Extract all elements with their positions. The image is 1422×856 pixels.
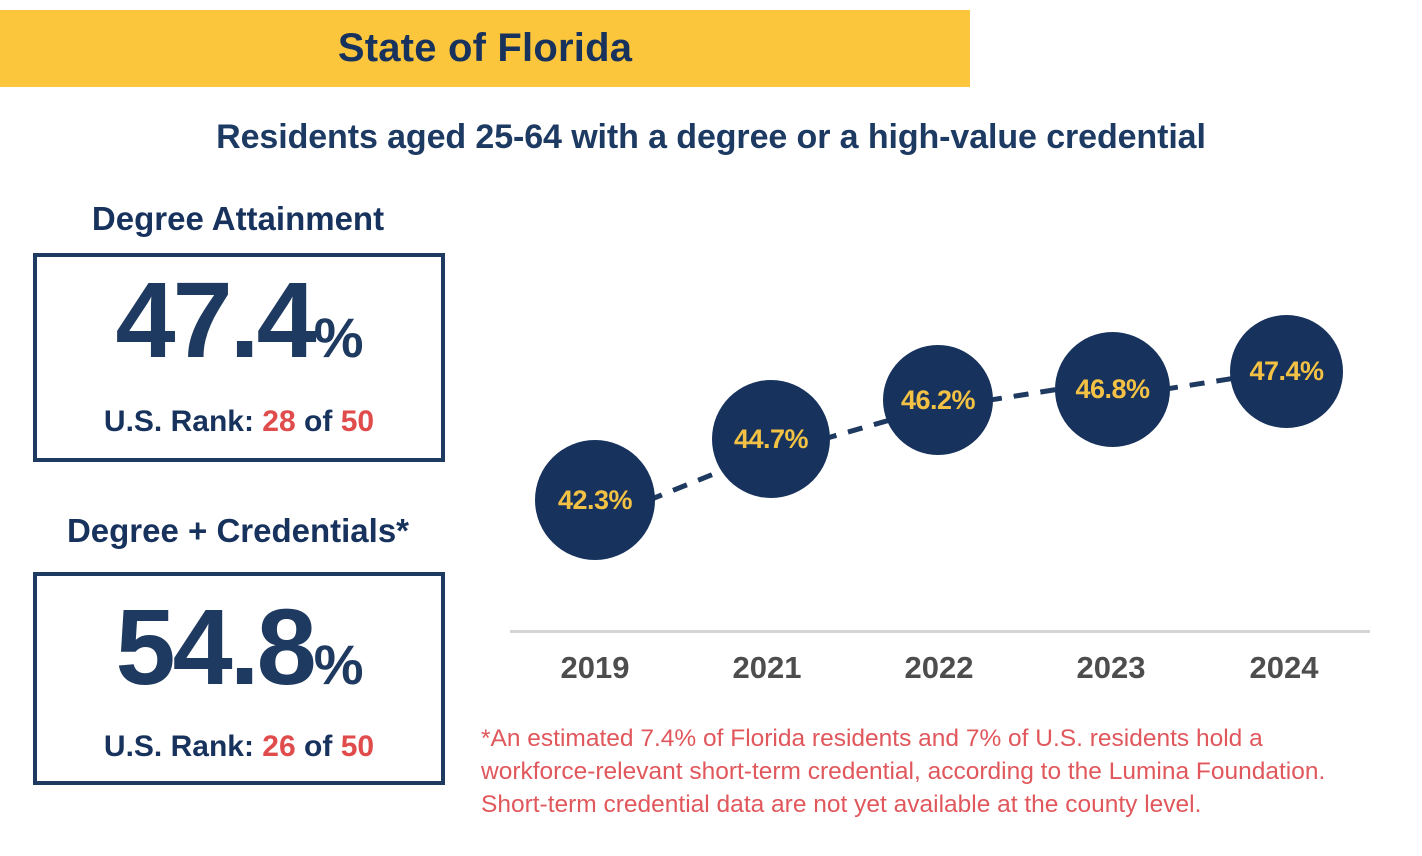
rank-of-word: of: [304, 730, 332, 763]
rank-label: U.S. Rank:: [104, 405, 254, 438]
stat-heading-degree-plus-credentials: Degree + Credentials*: [8, 512, 468, 550]
data-bubble: 47.4%: [1230, 315, 1343, 428]
page-title: State of Florida: [0, 10, 970, 87]
subtitle: Residents aged 25-64 with a degree or a …: [0, 118, 1422, 157]
data-bubble: 44.7%: [712, 380, 830, 498]
axis-tick-label: 2022: [879, 650, 999, 686]
axis-line: [510, 630, 1370, 633]
percent-symbol: %: [314, 306, 363, 369]
stat-rank-degree-plus-credentials: U.S. Rank: 26 of 50: [37, 730, 441, 764]
dashed-connector: [821, 416, 894, 441]
data-bubble: 46.8%: [1055, 332, 1170, 447]
stat-card-degree-attainment: 47.4% U.S. Rank: 28 of 50: [33, 253, 445, 462]
footnote-line: *An estimated 7.4% of Florida residents …: [481, 722, 1406, 755]
stat-value-row: 47.4%: [37, 263, 441, 376]
footnote-line: Short-term credential data are not yet a…: [481, 788, 1406, 821]
stat-card-degree-plus-credentials: 54.8% U.S. Rank: 26 of 50: [33, 572, 445, 785]
bubble-trend-chart: 42.3% 44.7% 46.2% 46.8% 47.4%: [500, 280, 1400, 700]
axis-tick-labels: 2019 2021 2022 2023 2024: [500, 650, 1380, 694]
rank-of-word: of: [304, 405, 332, 438]
rank-label: U.S. Rank:: [104, 730, 254, 763]
footnote: *An estimated 7.4% of Florida residents …: [481, 722, 1406, 821]
stat-rank-degree-attainment: U.S. Rank: 28 of 50: [37, 405, 441, 439]
stat-value-degree-plus-credentials: 54.8: [116, 586, 314, 707]
percent-symbol: %: [314, 633, 363, 696]
axis-tick-label: 2024: [1224, 650, 1344, 686]
rank-position: 26: [262, 730, 295, 763]
axis-tick-label: 2023: [1051, 650, 1171, 686]
dashed-connector: [647, 468, 723, 503]
dashed-connector: [987, 386, 1065, 403]
axis-tick-label: 2019: [535, 650, 655, 686]
data-bubble: 42.3%: [535, 440, 655, 560]
stat-value-degree-attainment: 47.4: [116, 259, 314, 380]
rank-total: 50: [341, 405, 374, 438]
stat-value-row: 54.8%: [37, 590, 441, 703]
rank-total: 50: [341, 730, 374, 763]
footnote-line: workforce-relevant short-term credential…: [481, 755, 1406, 788]
data-bubble: 46.2%: [883, 345, 993, 455]
header-gold-bar: State of Florida: [0, 10, 970, 87]
stat-heading-degree-attainment: Degree Attainment: [8, 200, 468, 238]
axis-tick-label: 2021: [707, 650, 827, 686]
rank-position: 28: [262, 405, 295, 438]
